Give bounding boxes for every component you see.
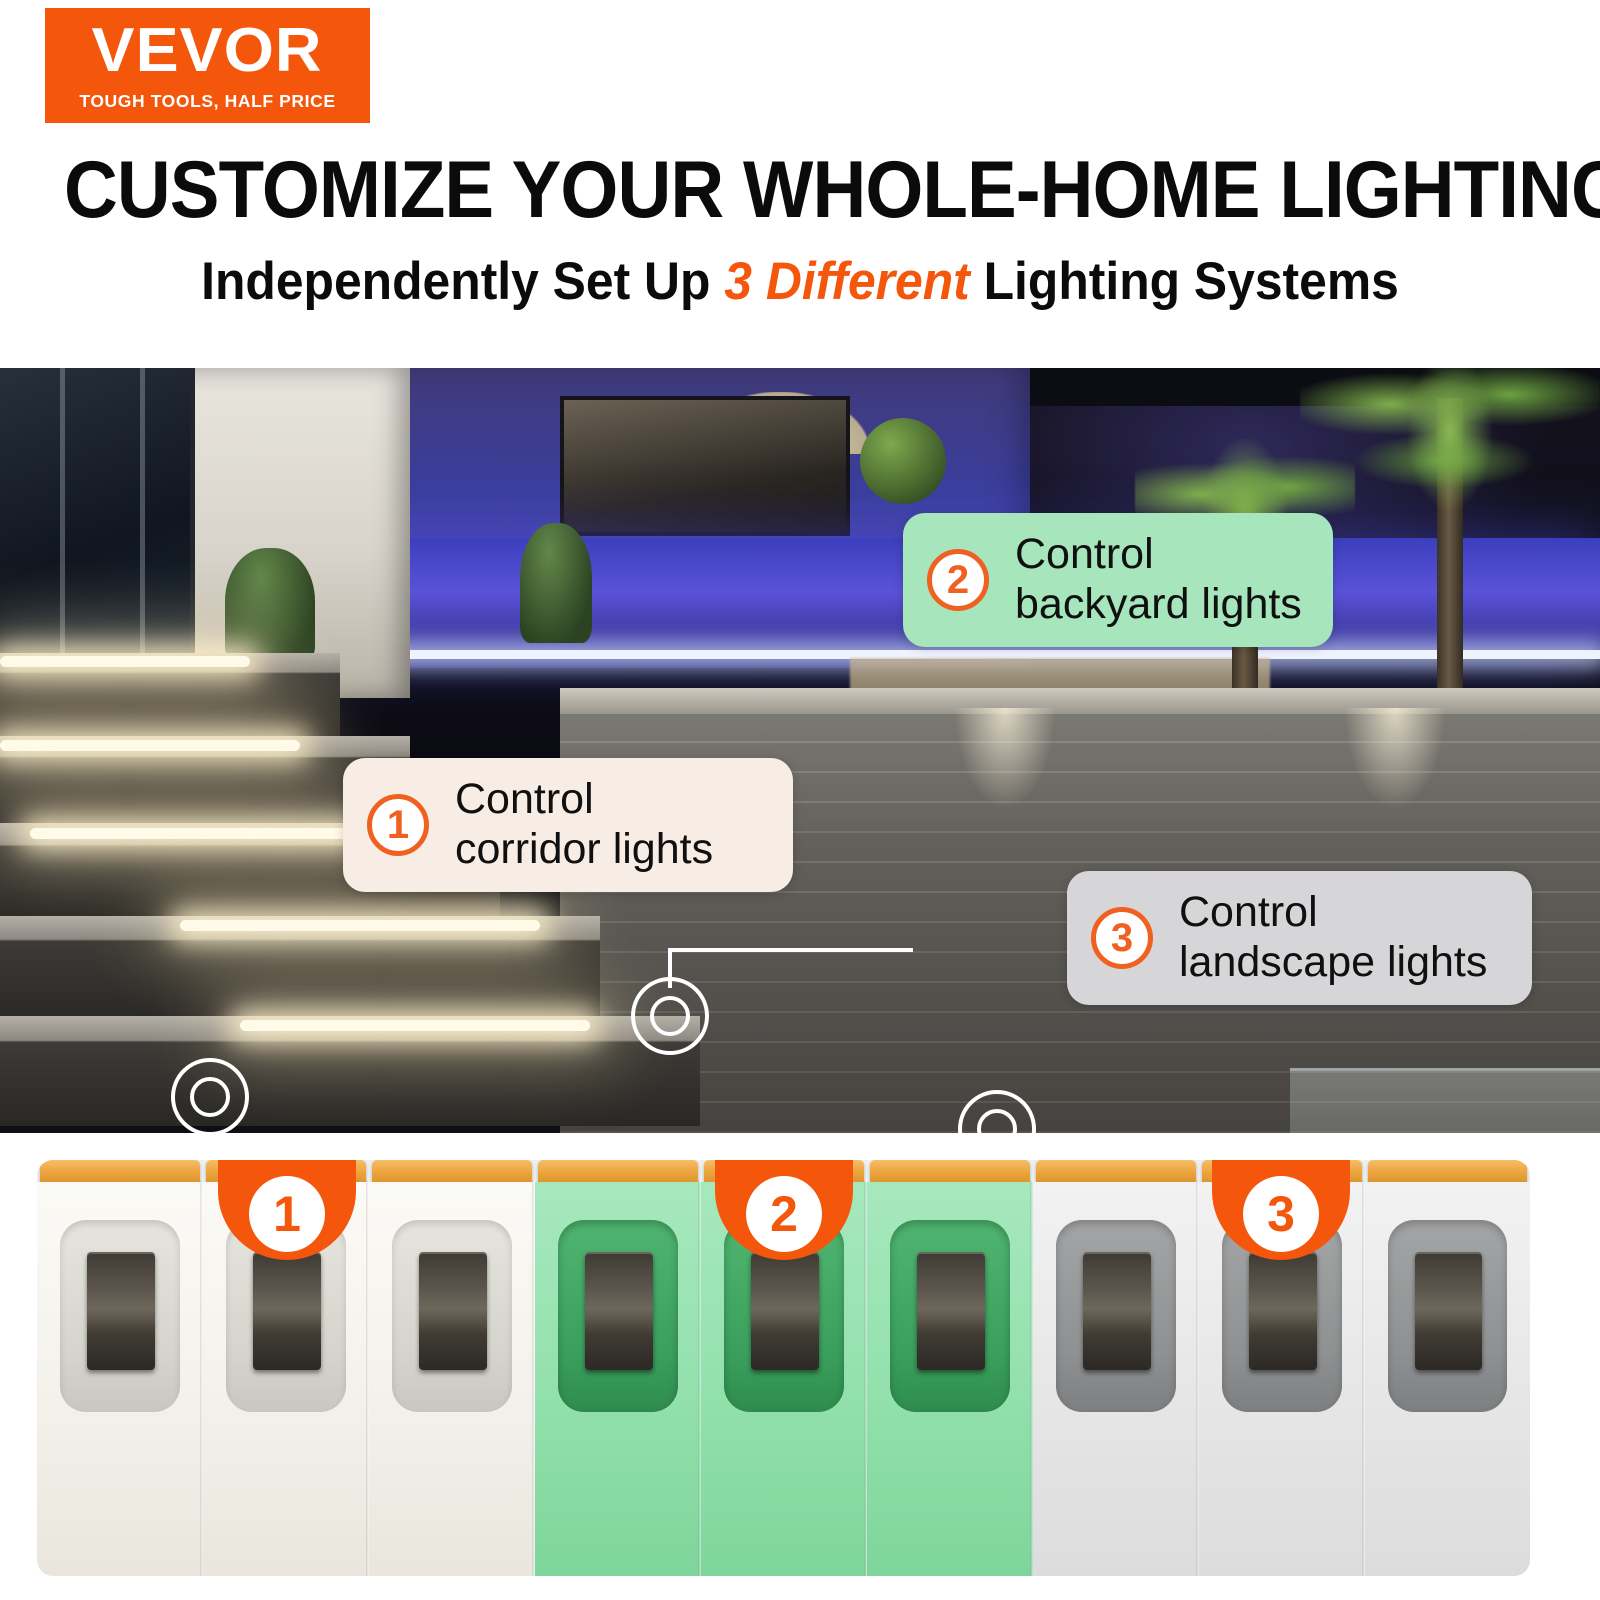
switch-module-6[interactable] [867,1160,1033,1576]
stair-step [0,916,600,1021]
stair-led-strip [0,656,250,667]
window-mullion [60,368,65,658]
callout-number-1: 1 [367,794,429,856]
rocker-switch[interactable] [253,1252,321,1370]
panel-badge-number-2: 2 [746,1176,822,1252]
switch-module-7[interactable] [1033,1160,1199,1576]
rocker-switch[interactable] [87,1252,155,1370]
callout-corridor[interactable]: 1 Control corridor lights [343,758,793,892]
page-title: CUSTOMIZE YOUR WHOLE-HOME LIGHTING [64,150,1536,231]
switch-module-3[interactable] [369,1160,535,1576]
callout-text-2: Control backyard lights [1015,530,1302,630]
registered-trademark-icon: ® [315,0,328,5]
stair-led-strip [180,920,540,931]
leader-line-vertical-2 [668,948,672,988]
rocker-switch[interactable] [751,1252,819,1370]
marker-inner-ring [190,1077,230,1117]
glass-door-panel [0,368,195,658]
potted-plant [520,523,592,643]
rocker-switch[interactable] [419,1252,487,1370]
header-section: VEVOR® TOUGH TOOLS, HALF PRICE CUSTOMIZE… [0,0,1600,368]
page-subtitle: Independently Set Up 3 Different Lightin… [48,255,1552,308]
marker-inner-ring [650,996,690,1036]
brand-wordmark: VEVOR® [92,20,323,82]
potted-plant [225,548,315,663]
callout-backyard[interactable]: 2 Control backyard lights [903,513,1333,647]
switch-module-9[interactable] [1365,1160,1530,1576]
rocker-switch[interactable] [917,1252,985,1370]
glass-railing [1290,1068,1600,1133]
brand-tagline: TOUGH TOOLS, HALF PRICE [79,91,335,112]
callout-number-3: 3 [1091,907,1153,969]
landscape-light-marker[interactable] [958,1090,1036,1133]
subtitle-part-1: Independently Set Up [201,252,724,311]
topiary-shrub [860,418,946,504]
switch-module-4[interactable] [535,1160,701,1576]
callout-landscape[interactable]: 3 Control landscape lights [1067,871,1532,1005]
panel-badge-number-1: 1 [249,1176,325,1252]
callout-number-2: 2 [927,549,989,611]
house-window [560,396,850,536]
rocker-switch[interactable] [1083,1252,1151,1370]
rocker-switch[interactable] [1249,1252,1317,1370]
hero-photo: 1 Control corridor lights 2 Control back… [0,368,1600,1133]
window-mullion [140,368,145,658]
stair-led-strip [30,828,360,839]
callout-text-3: Control landscape lights [1179,888,1487,988]
subtitle-part-2: Lighting Systems [970,252,1399,311]
corridor-light-marker[interactable] [171,1058,249,1133]
leader-line-horizontal-2 [668,948,913,952]
wall-wash-light [930,708,1080,958]
stair-step [0,1016,700,1126]
vevor-logo: VEVOR® TOUGH TOOLS, HALF PRICE [45,8,370,123]
rocker-switch[interactable] [585,1252,653,1370]
backyard-light-marker[interactable] [631,977,709,1055]
stair-led-strip [0,740,300,751]
rocker-switch[interactable] [1415,1252,1483,1370]
switch-module-1[interactable] [37,1160,203,1576]
subtitle-accent: 3 Different [724,252,969,311]
stair-led-strip [240,1020,590,1031]
brand-name: VEVOR [92,16,323,85]
callout-text-1: Control corridor lights [455,775,713,875]
panel-badge-number-3: 3 [1243,1176,1319,1252]
